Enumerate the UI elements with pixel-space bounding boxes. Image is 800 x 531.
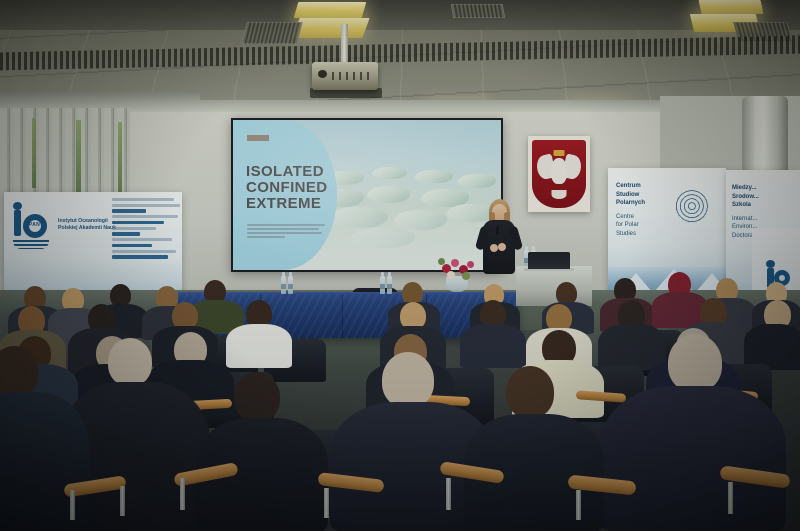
audience-head-foreground xyxy=(506,366,554,418)
slide-surface: ISOLATED CONFINED EXTREME xyxy=(233,120,501,270)
ceiling-lamp xyxy=(292,18,369,38)
audience-person-foreground xyxy=(600,386,786,531)
water-bottle xyxy=(281,276,286,294)
projector-lens-icon xyxy=(318,70,327,78)
audience-person xyxy=(598,324,666,370)
flower-bouquet xyxy=(438,256,478,282)
back-wall-soffit xyxy=(130,100,670,112)
audience-head-foreground xyxy=(668,334,722,392)
conference-hall-photo: ISOLATED CONFINED EXTREME PAN Instyt xyxy=(0,0,800,531)
water-bottle xyxy=(380,276,385,294)
audience-head-foreground xyxy=(234,372,280,422)
chair-post xyxy=(728,482,733,514)
speaker xyxy=(483,220,515,274)
laptop-screen xyxy=(528,252,570,269)
microphone-icon xyxy=(496,226,499,235)
eagle-tail xyxy=(552,190,567,199)
ceiling-lamp xyxy=(294,2,367,18)
projector-mount-pole xyxy=(341,24,348,66)
window-gap xyxy=(76,120,81,192)
chair-post xyxy=(70,490,75,520)
screen-glare xyxy=(233,120,501,270)
projection-screen: ISOLATED CONFINED EXTREME xyxy=(231,118,503,272)
iopan-logo-icon: PAN xyxy=(12,204,52,252)
water-bottle xyxy=(288,276,293,294)
ceiling-vent xyxy=(451,4,505,18)
ceiling-vent xyxy=(241,22,302,44)
audience-head-foreground xyxy=(108,338,152,386)
spiral-logo-icon xyxy=(670,186,712,228)
crown-icon xyxy=(554,150,565,156)
banner-cps-text: Centrum Studiow Polarnych Centre for Pol… xyxy=(616,182,672,239)
audience-person xyxy=(226,324,292,368)
ceiling-shadow-band xyxy=(0,0,800,30)
chair-post xyxy=(576,490,581,520)
water-bottle xyxy=(387,276,392,294)
chair-post xyxy=(120,486,125,516)
projector-vents xyxy=(332,72,372,80)
audience-person xyxy=(460,324,526,368)
polish-coat-of-arms xyxy=(528,136,590,212)
chair-post xyxy=(446,478,451,510)
ceiling-lamp xyxy=(699,0,764,14)
eagle-body xyxy=(551,158,567,184)
audience-person-foreground xyxy=(0,392,90,531)
chair-post xyxy=(324,488,329,518)
chair-post xyxy=(180,478,185,510)
audience-head-foreground xyxy=(382,352,434,408)
shield-icon xyxy=(532,140,586,208)
podium xyxy=(516,266,592,306)
window-gap xyxy=(118,122,122,192)
banner-keyword-cloud xyxy=(112,198,182,259)
window-gap xyxy=(32,118,36,188)
